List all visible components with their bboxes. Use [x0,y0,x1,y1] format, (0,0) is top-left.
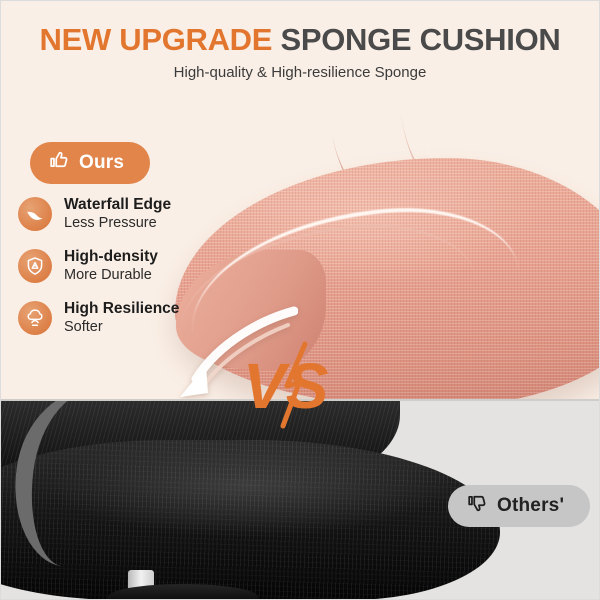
shield-density-icon [18,249,52,283]
vs-graphic: VS [243,352,335,418]
resilience-cloud-icon [18,301,52,335]
others-section: Others' [0,400,600,600]
page-title-highlight: NEW UPGRADE [40,22,273,57]
page-subtitle: High-quality & High-resilience Sponge [0,64,600,81]
feature-text: High Resilience Softer [64,300,179,336]
feature-item: High Resilience Softer [18,300,233,336]
feature-title: Waterfall Edge [64,196,171,213]
feature-subtitle: Softer [64,319,103,335]
header-band: NEW UPGRADE SPONGE CUSHION High-quality … [0,0,600,100]
feature-subtitle: Less Pressure [64,215,157,231]
infographic-page: NEW UPGRADE SPONGE CUSHION High-quality … [0,0,600,600]
ours-badge-label: Ours [79,152,124,174]
thumbs-down-icon [466,492,488,519]
waterfall-edge-icon [18,197,52,231]
feature-list: Waterfall Edge Less Pressure High-densit… [18,196,233,351]
thumbs-up-icon [48,149,70,176]
feature-subtitle: More Durable [64,267,152,283]
feature-item: High-density More Durable [18,248,233,284]
feature-text: High-density More Durable [64,248,158,284]
page-title: NEW UPGRADE SPONGE CUSHION [0,22,600,58]
others-badge-label: Others' [497,495,564,517]
ours-badge[interactable]: Ours [30,142,150,184]
others-badge[interactable]: Others' [448,485,590,527]
feature-title: High Resilience [64,300,179,317]
feature-text: Waterfall Edge Less Pressure [64,196,171,232]
feature-title: High-density [64,248,158,265]
page-title-rest: SPONGE CUSHION [272,22,560,57]
feature-item: Waterfall Edge Less Pressure [18,196,233,232]
